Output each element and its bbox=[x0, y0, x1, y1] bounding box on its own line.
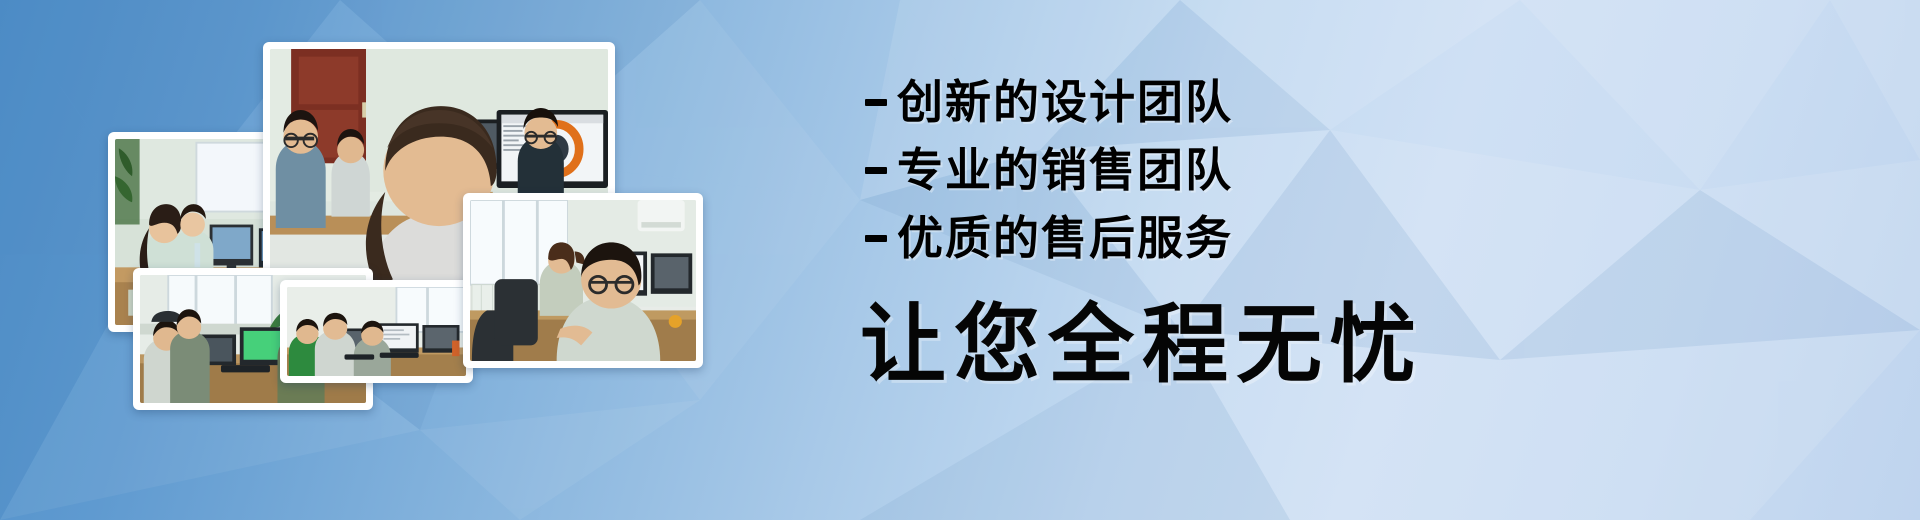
bullet-item-1-label: 创新的设计团队 bbox=[897, 68, 1233, 136]
collage-photo-5[interactable] bbox=[463, 193, 703, 368]
bullet-item-3-label: 优质的售后服务 bbox=[897, 204, 1233, 272]
dash-marker-icon bbox=[865, 99, 887, 106]
promo-banner: 创新的设计团队 专业的销售团队 优质的售后服务 让您全程无忧 bbox=[0, 0, 1920, 520]
bullet-item-2: 专业的销售团队 bbox=[865, 136, 1920, 204]
bullet-list: 创新的设计团队 专业的销售团队 优质的售后服务 bbox=[865, 68, 1920, 272]
bullet-item-3: 优质的售后服务 bbox=[865, 204, 1920, 272]
collage-photo-5-image bbox=[470, 200, 696, 361]
photo-collage bbox=[0, 0, 820, 520]
dash-marker-icon bbox=[865, 235, 887, 242]
bullet-item-1: 创新的设计团队 bbox=[865, 68, 1920, 136]
dash-marker-icon bbox=[865, 167, 887, 174]
collage-photo-4[interactable] bbox=[280, 280, 473, 383]
bullet-item-2-label: 专业的销售团队 bbox=[897, 136, 1233, 204]
collage-photo-4-image bbox=[287, 287, 466, 376]
headline-block: 创新的设计团队 专业的销售团队 优质的售后服务 让您全程无忧 bbox=[860, 0, 1920, 520]
main-headline: 让您全程无忧 bbox=[860, 290, 1424, 400]
